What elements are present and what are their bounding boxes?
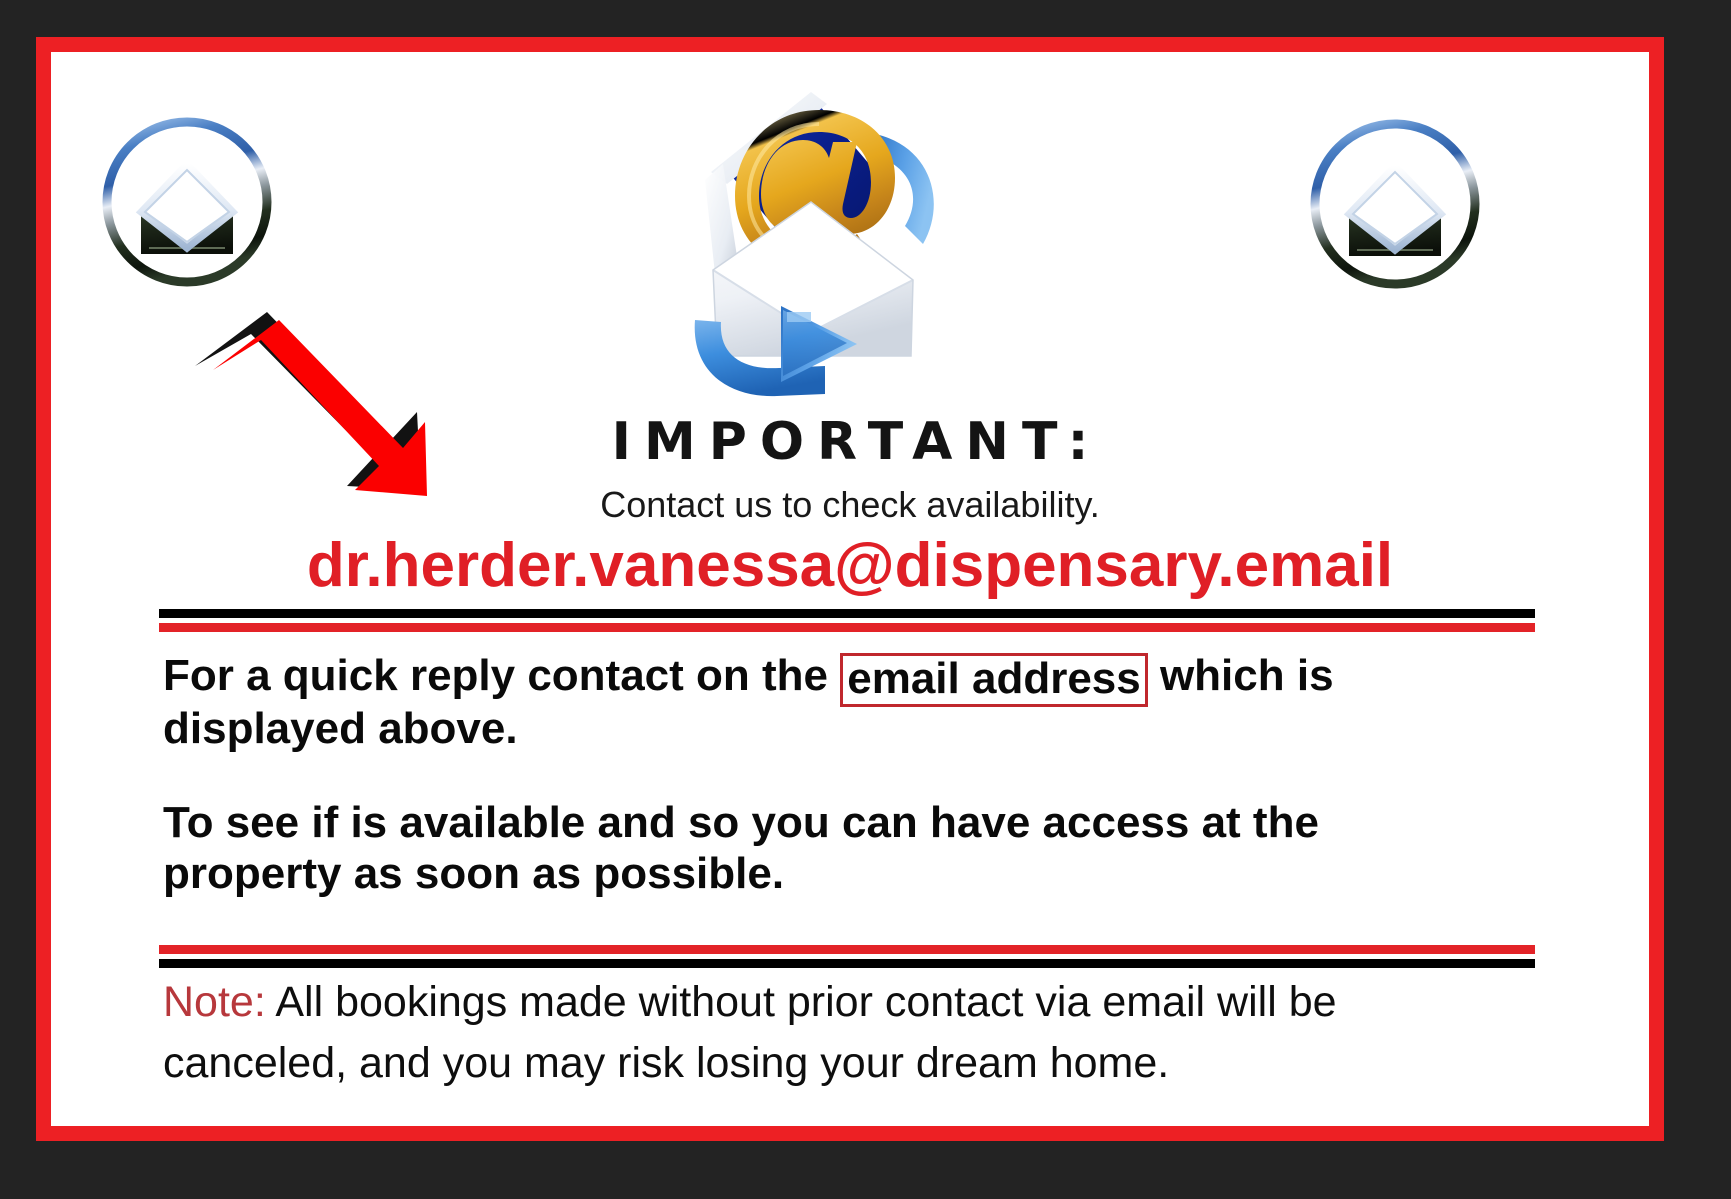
instruction-paragraph-1: For a quick reply contact on the email a…: [163, 650, 1413, 755]
poster-outer-frame: IMPORTANT: Contact us to check availabil…: [0, 0, 1731, 1199]
divider-red-bar: [159, 623, 1535, 632]
instruction-paragraph-2: To see if is available and so you can ha…: [163, 798, 1413, 899]
poster-red-border: IMPORTANT: Contact us to check availabil…: [36, 37, 1664, 1141]
subtitle: Contact us to check availability.: [51, 484, 1649, 526]
email-address-highlight: email address: [840, 653, 1148, 707]
divider-black-bar: [159, 959, 1535, 968]
at-symbol-envelope-icon: [661, 74, 961, 404]
envelope-circle-icon: [1305, 114, 1485, 294]
divider-red-bar: [159, 945, 1535, 954]
page-title: IMPORTANT:: [51, 412, 1649, 472]
paragraph-1-prefix: For a quick reply contact on the: [163, 651, 840, 700]
note-paragraph: Note: All bookings made without prior co…: [163, 972, 1483, 1094]
red-down-right-arrow-icon: [177, 290, 447, 505]
contact-email[interactable]: dr.herder.vanessa@dispensary.email: [51, 530, 1649, 601]
divider-top: [159, 609, 1535, 632]
note-label: Note:: [163, 978, 266, 1026]
divider-black-bar: [159, 609, 1535, 618]
divider-bottom: [159, 945, 1535, 968]
note-text: All bookings made without prior contact …: [163, 978, 1337, 1087]
poster-canvas: IMPORTANT: Contact us to check availabil…: [51, 52, 1649, 1126]
envelope-circle-icon: [97, 112, 277, 292]
